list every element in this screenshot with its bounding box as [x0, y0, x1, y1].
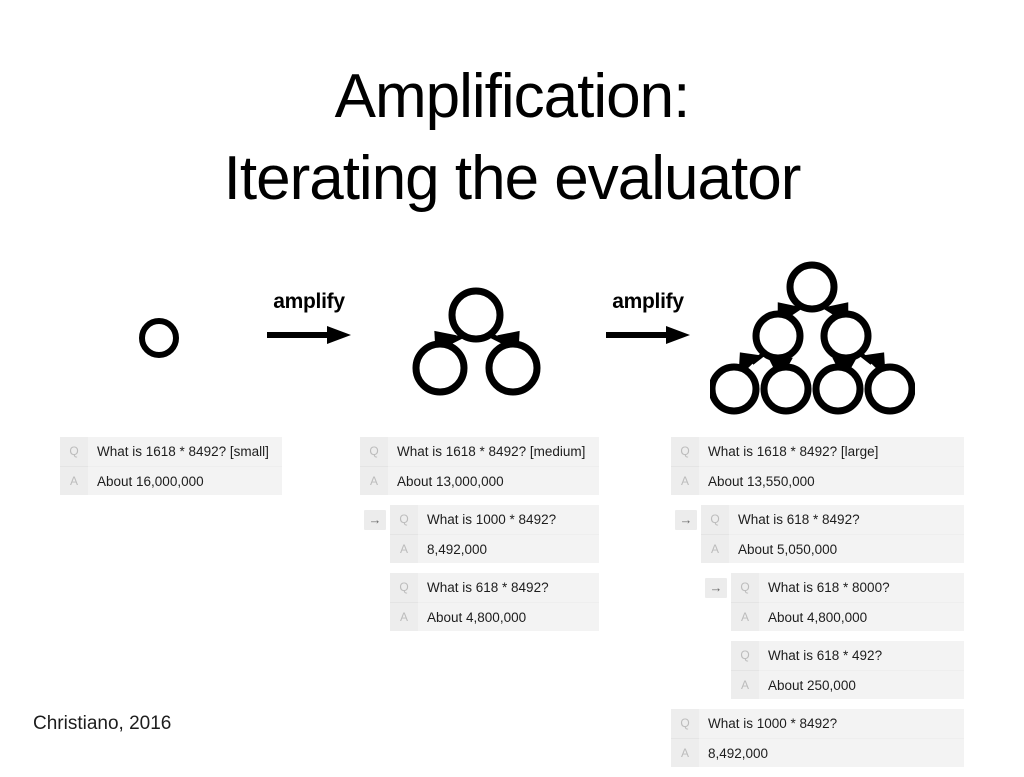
qa-indent-cell [671, 573, 701, 631]
tree-stage-1 [133, 310, 189, 371]
qa-block-row: QWhat is 1618 * 8492? [medium]AAbout 13,… [360, 437, 599, 495]
qa-answer-text: About 13,550,000 [699, 466, 964, 495]
qa-question-row: QWhat is 618 * 8000? [731, 573, 964, 602]
qa-question-row: QWhat is 1618 * 8492? [large] [671, 437, 964, 466]
qa-question-tag: Q [671, 709, 699, 738]
amplify-label-2: amplify [589, 290, 707, 314]
qa-answer-row: AAbout 13,550,000 [671, 466, 964, 495]
qa-answer-text: 8,492,000 [699, 738, 964, 767]
qa-answer-text: About 5,050,000 [729, 534, 964, 563]
qa-answer-row: A8,492,000 [390, 534, 599, 563]
qa-card: QWhat is 1618 * 8492? [large]AAbout 13,5… [671, 437, 964, 495]
qa-question-tag: Q [360, 437, 388, 466]
qa-block-row: QWhat is 618 * 492?AAbout 250,000 [671, 641, 964, 699]
qa-card: QWhat is 618 * 8000?AAbout 4,800,000 [731, 573, 964, 631]
qa-answer-tag: A [60, 466, 88, 495]
qa-block-row: →QWhat is 618 * 8492?AAbout 5,050,000 [671, 505, 964, 563]
qa-question-text: What is 1000 * 8492? [699, 709, 964, 738]
qa-block: →QWhat is 1000 * 8492?A8,492,000 [360, 505, 599, 563]
qa-indent-cell [671, 641, 701, 699]
qa-answer-tag: A [390, 602, 418, 631]
qa-block: →QWhat is 618 * 8492?AAbout 5,050,000 [671, 505, 964, 563]
single-node-tree-graphic [133, 310, 189, 366]
qa-block-row: QWhat is 1618 * 8492? [small]AAbout 16,0… [60, 437, 282, 495]
qa-question-tag: Q [701, 505, 729, 534]
qa-question-row: QWhat is 618 * 8492? [701, 505, 964, 534]
qa-answer-text: 8,492,000 [418, 534, 599, 563]
tree-stage-2 [412, 280, 542, 405]
qa-answer-row: AAbout 16,000,000 [60, 466, 282, 495]
subquestion-arrow-icon: → [705, 578, 727, 598]
qa-answer-tag: A [701, 534, 729, 563]
qa-question-text: What is 618 * 8492? [729, 505, 964, 534]
subquestion-arrow-icon: → [675, 510, 697, 530]
qa-card: QWhat is 1618 * 8492? [small]AAbout 16,0… [60, 437, 282, 495]
amplify-group-1: amplify [250, 290, 368, 346]
qa-block-row: →QWhat is 1000 * 8492?A8,492,000 [360, 505, 599, 563]
qa-indent-cell: → [671, 505, 701, 563]
qa-card: QWhat is 618 * 8492?AAbout 4,800,000 [390, 573, 599, 631]
qa-answer-tag: A [390, 534, 418, 563]
qa-card: QWhat is 1000 * 8492?A8,492,000 [671, 709, 964, 767]
qa-question-tag: Q [731, 641, 759, 670]
qa-answer-text: About 4,800,000 [759, 602, 964, 631]
qa-answer-row: AAbout 250,000 [731, 670, 964, 699]
qa-question-text: What is 1618 * 8492? [large] [699, 437, 964, 466]
qa-question-text: What is 1000 * 8492? [418, 505, 599, 534]
amplify-label-1: amplify [250, 290, 368, 314]
qa-answer-tag: A [671, 466, 699, 495]
qa-indent-cell [360, 573, 390, 631]
qa-question-row: QWhat is 1000 * 8492? [390, 505, 599, 534]
qa-indent-cell: → [360, 505, 390, 563]
qa-answer-tag: A [360, 466, 388, 495]
right-arrow-icon [265, 324, 353, 346]
qa-question-row: QWhat is 1618 * 8492? [medium] [360, 437, 599, 466]
qa-question-row: QWhat is 618 * 8492? [390, 573, 599, 602]
right-arrow-icon [604, 324, 692, 346]
amplify-group-2: amplify [589, 290, 707, 346]
page-title: Amplification: Iterating the evaluator [0, 56, 1024, 220]
qa-answer-row: A8,492,000 [671, 738, 964, 767]
qa-answer-tag: A [731, 602, 759, 631]
qa-block: QWhat is 618 * 492?AAbout 250,000 [671, 641, 964, 699]
qa-answer-tag: A [731, 670, 759, 699]
qa-question-row: QWhat is 1618 * 8492? [small] [60, 437, 282, 466]
three-level-tree-graphic [710, 260, 915, 420]
qa-question-tag: Q [390, 505, 418, 534]
qa-answer-text: About 250,000 [759, 670, 964, 699]
qa-block-row: QWhat is 1000 * 8492?A8,492,000 [671, 709, 964, 767]
qa-question-text: What is 618 * 8000? [759, 573, 964, 602]
qa-answer-tag: A [671, 738, 699, 767]
amplification-diagram: amplify amplify [0, 252, 1024, 422]
qa-column-medium: QWhat is 1618 * 8492? [medium]AAbout 13,… [360, 437, 599, 641]
qa-question-row: QWhat is 1000 * 8492? [671, 709, 964, 738]
qa-answer-row: AAbout 4,800,000 [390, 602, 599, 631]
qa-block: QWhat is 1618 * 8492? [large]AAbout 13,5… [671, 437, 964, 495]
qa-question-text: What is 618 * 8492? [418, 573, 599, 602]
qa-block-row: QWhat is 618 * 8492?AAbout 4,800,000 [360, 573, 599, 631]
qa-block-row: QWhat is 1618 * 8492? [large]AAbout 13,5… [671, 437, 964, 495]
qa-card: QWhat is 1618 * 8492? [medium]AAbout 13,… [360, 437, 599, 495]
qa-answer-row: AAbout 4,800,000 [731, 602, 964, 631]
qa-column-small: QWhat is 1618 * 8492? [small]AAbout 16,0… [60, 437, 282, 505]
qa-answer-row: AAbout 13,000,000 [360, 466, 599, 495]
qa-question-text: What is 618 * 492? [759, 641, 964, 670]
title-line-1: Amplification: [0, 56, 1024, 138]
qa-question-tag: Q [671, 437, 699, 466]
qa-answer-text: About 4,800,000 [418, 602, 599, 631]
qa-card: QWhat is 618 * 492?AAbout 250,000 [731, 641, 964, 699]
qa-answer-text: About 16,000,000 [88, 466, 282, 495]
citation: Christiano, 2016 [33, 713, 171, 735]
two-level-tree-graphic [412, 280, 542, 400]
qa-card: QWhat is 1000 * 8492?A8,492,000 [390, 505, 599, 563]
qa-block-row: →QWhat is 618 * 8000?AAbout 4,800,000 [671, 573, 964, 631]
qa-question-row: QWhat is 618 * 492? [731, 641, 964, 670]
qa-card: QWhat is 618 * 8492?AAbout 5,050,000 [701, 505, 964, 563]
qa-block: QWhat is 1618 * 8492? [medium]AAbout 13,… [360, 437, 599, 495]
qa-answer-row: AAbout 5,050,000 [701, 534, 964, 563]
qa-block: QWhat is 618 * 8492?AAbout 4,800,000 [360, 573, 599, 631]
qa-question-text: What is 1618 * 8492? [small] [88, 437, 282, 466]
qa-indent-cell [701, 641, 731, 699]
qa-indent-cell: → [701, 573, 731, 631]
qa-question-tag: Q [390, 573, 418, 602]
subquestion-arrow-icon: → [364, 510, 386, 530]
qa-block: →QWhat is 618 * 8000?AAbout 4,800,000 [671, 573, 964, 631]
tree-stage-3 [710, 260, 915, 425]
qa-column-large: QWhat is 1618 * 8492? [large]AAbout 13,5… [671, 437, 964, 777]
qa-answer-text: About 13,000,000 [388, 466, 599, 495]
qa-question-text: What is 1618 * 8492? [medium] [388, 437, 599, 466]
qa-question-tag: Q [731, 573, 759, 602]
qa-block: QWhat is 1618 * 8492? [small]AAbout 16,0… [60, 437, 282, 495]
qa-question-tag: Q [60, 437, 88, 466]
qa-block: QWhat is 1000 * 8492?A8,492,000 [671, 709, 964, 767]
title-line-2: Iterating the evaluator [0, 138, 1024, 220]
